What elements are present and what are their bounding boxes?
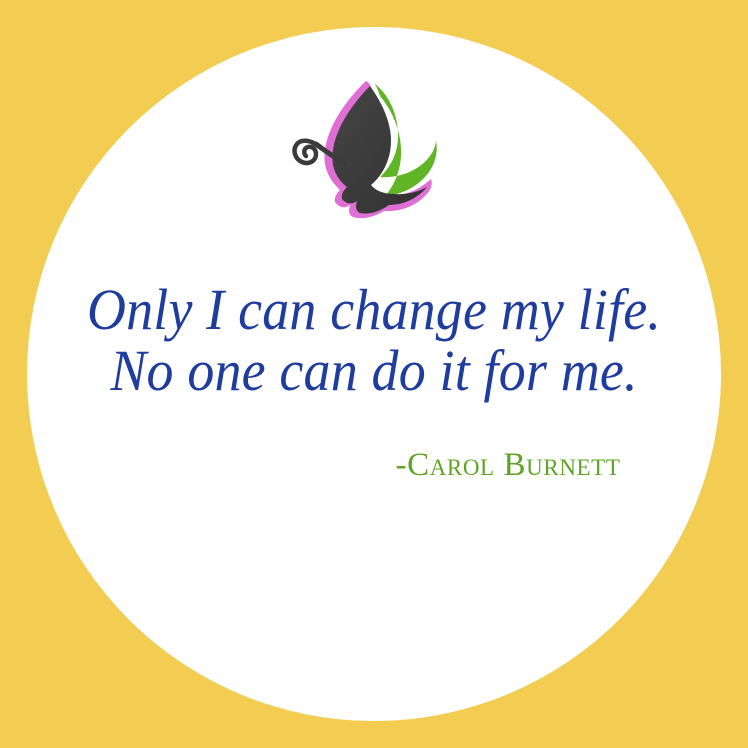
quote-line-2: No one can do it for me. <box>26 340 722 401</box>
quote-line-1: Only I can change my life. <box>26 279 722 340</box>
quote-card: Only I can change my life. No one can do… <box>0 0 748 748</box>
attribution-inner: -Carol Burnett <box>396 447 621 483</box>
attribution-text: -Carol Burnett <box>396 447 621 483</box>
butterfly-logo-icon <box>288 78 438 223</box>
quote-text-block: Only I can change my life. No one can do… <box>0 279 748 401</box>
attribution-block: -Carol Burnett <box>0 447 748 483</box>
